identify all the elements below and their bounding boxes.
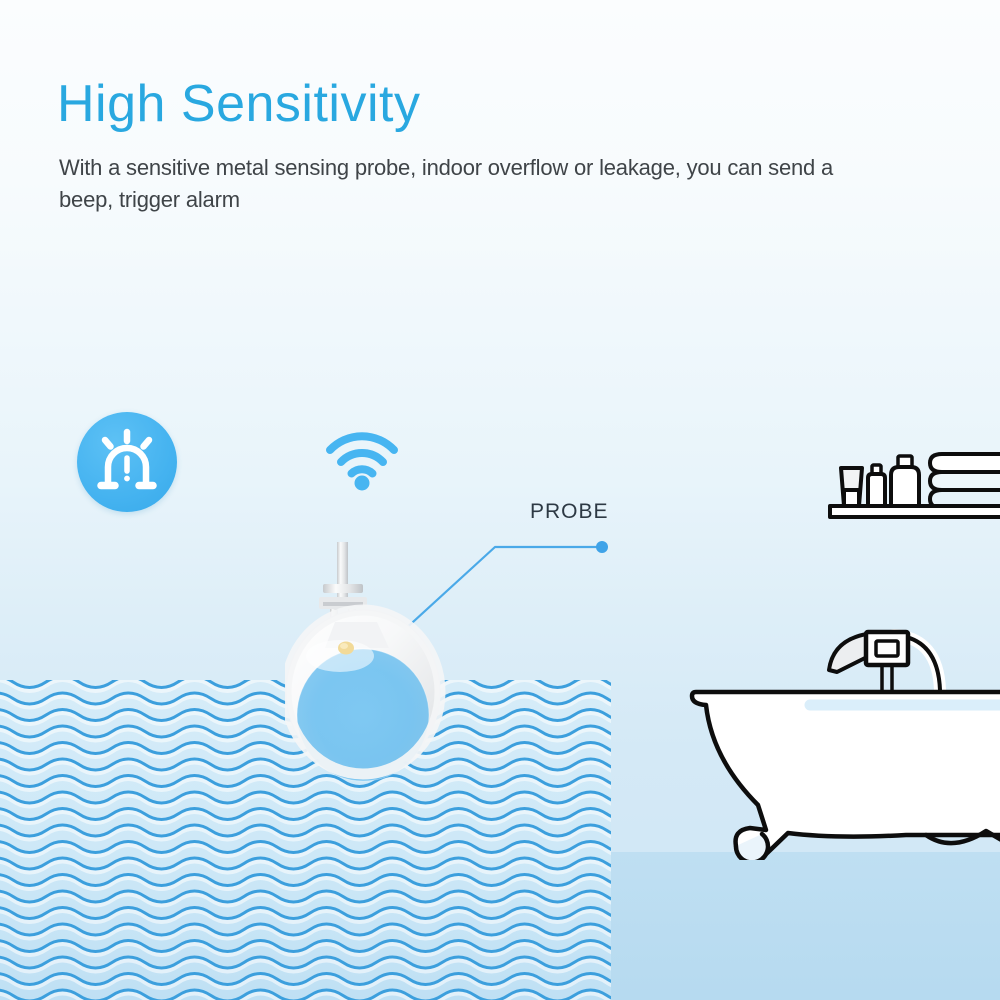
callout-end-dot [596, 541, 608, 553]
alarm-siren-icon [77, 412, 177, 512]
bathroom-illustration [650, 420, 1000, 860]
page-title: High Sensitivity [57, 76, 420, 133]
probe-flange-upper [323, 584, 363, 593]
alarm-siren-badge [77, 412, 177, 512]
promo-banner: High Sensitivity With a sensitive metal … [0, 0, 1000, 1000]
folded-towel-middle [930, 472, 1000, 490]
water-leak-sensor [285, 530, 465, 790]
faucet-stem [882, 665, 892, 692]
callout-label-probe: PROBE [530, 500, 609, 524]
wide-bottle [891, 467, 919, 506]
shelf-board [830, 506, 1000, 517]
folded-towel-top [930, 454, 1000, 472]
bathtub-body [692, 692, 1000, 860]
wifi-icon [324, 428, 400, 492]
faucet-valve-inner [876, 641, 898, 656]
page-subtitle: With a sensitive metal sensing probe, in… [59, 152, 889, 216]
slim-bottle [868, 474, 885, 506]
